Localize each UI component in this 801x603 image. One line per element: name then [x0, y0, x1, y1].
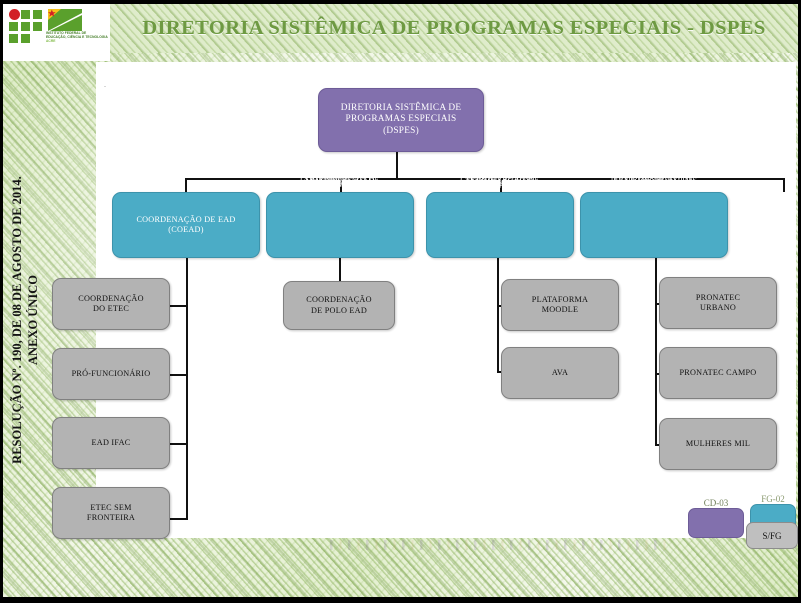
- node-pronatec-campo-label: PRONATEC CAMPO: [660, 368, 776, 378]
- node-coead[interactable]: COORDENAÇÃO DE EAD (COEAD): [112, 192, 260, 258]
- node-ava-label: AVA: [502, 368, 618, 378]
- node-etec-sem-fronteira-line-1: ETEC SEM: [53, 503, 169, 513]
- frame-left-edge: [0, 0, 3, 603]
- node-pronatec-campo[interactable]: PRONATEC CAMPO: [659, 347, 777, 399]
- legend-cd-03-label: CD-03: [689, 498, 743, 508]
- logo-wordmark: INSTITUTO FEDERAL DE EDUCAÇÃO, CIÊNCIA E…: [46, 31, 108, 43]
- node-ead-ifac[interactable]: EAD IFAC: [52, 417, 170, 469]
- node-pronatec-urbano-line-2: URBANO: [660, 303, 776, 313]
- node-coord-polo-ead[interactable]: COORDENAÇÃO DE POLO EAD: [283, 281, 395, 330]
- node-dspes[interactable]: DIRETORIA SISTÊMICA DE PROGRAMAS ESPECIA…: [318, 88, 484, 152]
- node-coad[interactable]: COORDENAÇÃO DE ADMINISTRAÇÃO, MANUTENÇÃO…: [266, 192, 414, 258]
- connector-spine-coad: [339, 258, 341, 282]
- node-ava[interactable]: AVA: [501, 347, 619, 399]
- connector-branch-pro-funcionario: [168, 374, 188, 376]
- legend-fg-02-label: FG-02: [751, 494, 795, 504]
- node-coead-line-1: COORDENAÇÃO DE EAD: [113, 215, 259, 225]
- connector-spine-coti: [497, 258, 499, 372]
- frame-bottom-edge: [0, 597, 801, 603]
- node-coti-line-5: (COTI): [427, 180, 573, 190]
- frame-top-edge: [0, 0, 801, 4]
- node-pronatec-urbano[interactable]: PRONATEC URBANO: [659, 277, 777, 329]
- node-etec-sem-fronteira[interactable]: ETEC SEM FRONTEIRA: [52, 487, 170, 539]
- node-dspes-line-1: DIRETORIA SISTÊMICA DE: [319, 103, 483, 115]
- connector-drop-cope: [783, 178, 785, 192]
- node-mulheres-mil-label: MULHERES MIL: [660, 439, 776, 449]
- node-coord-etec[interactable]: COORDENAÇÃO DO ETEC: [52, 278, 170, 330]
- node-coead-line-2: (COEAD): [113, 225, 259, 235]
- node-coord-polo-ead-line-2: DE POLO EAD: [284, 306, 394, 316]
- node-cope[interactable]: COORDENAÇÃO DE PROJETOS ESPECIAIS (COPE): [580, 192, 728, 258]
- node-coti[interactable]: COORDENAÇÃO DE TECNOLOGIA DA INFORMAÇÃO …: [426, 192, 574, 258]
- ifac-logo: INSTITUTO FEDERAL DE EDUCAÇÃO, CIÊNCIA E…: [8, 8, 106, 54]
- node-coord-etec-line-2: DO ETEC: [53, 304, 169, 314]
- node-pro-funcionario-label: PRÓ-FUNCIONÁRIO: [53, 369, 169, 379]
- node-plataforma-moodle[interactable]: PLATAFORMA MOODLE: [501, 279, 619, 331]
- annex-line: ANEXO ÚNICO: [25, 176, 41, 464]
- node-pronatec-urbano-line-1: PRONATEC: [660, 293, 776, 303]
- acre-flag-icon: [48, 9, 82, 31]
- node-plataforma-moodle-line-2: MOODLE: [502, 305, 618, 315]
- legend-cd-03[interactable]: CD-03: [688, 508, 744, 538]
- node-coord-polo-ead-line-1: COORDENAÇÃO: [284, 295, 394, 305]
- logo-line-3: ACRE: [46, 39, 108, 43]
- connector-branch-coord-etec: [168, 305, 188, 307]
- resolution-line: RESOLUÇÃO Nº. 190, DE 08 DE AGOSTO DE 20…: [9, 176, 25, 464]
- connector-drop-coead: [185, 178, 187, 192]
- resolution-caption: RESOLUÇÃO Nº. 190, DE 08 DE AGOSTO DE 20…: [4, 120, 46, 520]
- node-pro-funcionario[interactable]: PRÓ-FUNCIONÁRIO: [52, 348, 170, 400]
- node-cope-line-3: (COPE): [581, 177, 727, 187]
- page-title: DIRETORIA SISTÊMICA DE PROGRAMAS ESPECIA…: [142, 17, 765, 40]
- node-plataforma-moodle-line-1: PLATAFORMA: [502, 295, 618, 305]
- connector-branch-etec-sem-fronteira: [168, 518, 188, 520]
- node-etec-sem-fronteira-line-2: FRONTEIRA: [53, 513, 169, 523]
- node-coord-etec-line-1: COORDENAÇÃO: [53, 294, 169, 304]
- legend-s-fg-label: S/FG: [747, 531, 797, 541]
- header-banner: DIRETORIA SISTÊMICA DE PROGRAMAS ESPECIA…: [110, 4, 798, 53]
- node-ead-ifac-label: EAD IFAC: [53, 438, 169, 448]
- node-dspes-line-3: (DSPES): [319, 126, 483, 138]
- logo-grid-icon: [8, 10, 44, 48]
- connector-spine-cope: [655, 258, 657, 446]
- panel-corner-mark: .: [104, 80, 106, 89]
- slide-canvas: INSTITUTO FEDERAL DE EDUCAÇÃO, CIÊNCIA E…: [0, 0, 801, 603]
- node-mulheres-mil[interactable]: MULHERES MIL: [659, 418, 777, 470]
- logo-red-dot-icon: [9, 9, 20, 20]
- node-dspes-line-2: PROGRAMAS ESPECIAIS: [319, 114, 483, 126]
- connector-branch-ead-ifac: [168, 443, 188, 445]
- legend-s-fg[interactable]: S/FG: [746, 522, 798, 549]
- node-coad-line-5: (COAD): [267, 180, 413, 190]
- footer-artifact: [330, 540, 670, 550]
- connector-spine-coead: [186, 258, 188, 519]
